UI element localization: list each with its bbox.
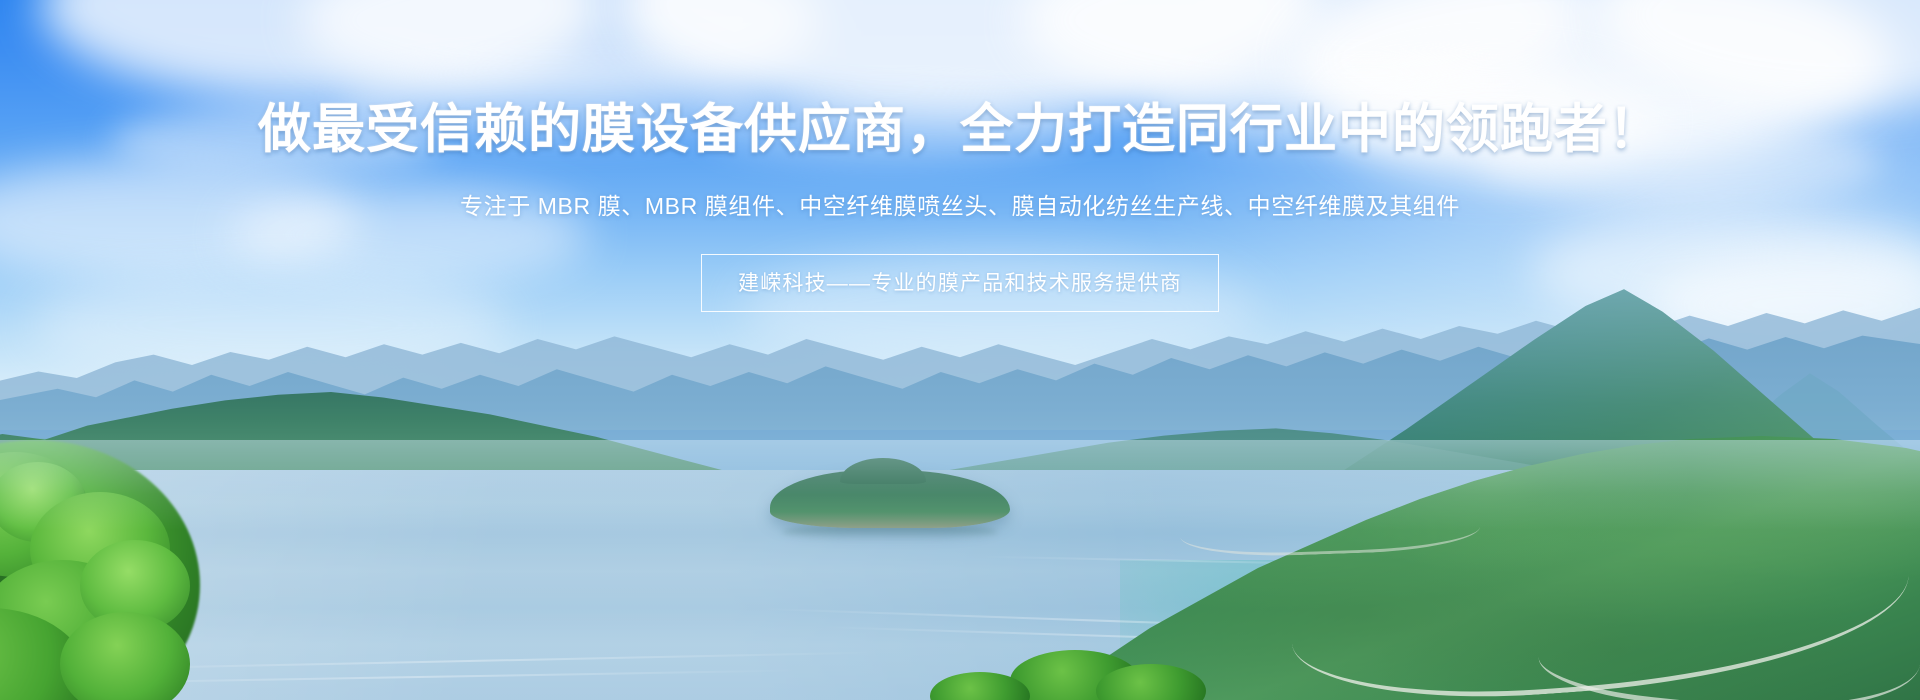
banner-subtitle: 专注于 MBR 膜、MBR 膜组件、中空纤维膜喷丝头、膜自动化纺丝生产线、中空纤…: [460, 187, 1460, 221]
banner-tagline: 建嵘科技——专业的膜产品和技术服务提供商: [738, 267, 1182, 297]
hero-banner: 做最受信赖的膜设备供应商，全力打造同行业中的领跑者！ 专注于 MBR 膜、MBR…: [0, 0, 1920, 700]
banner-headline: 做最受信赖的膜设备供应商，全力打造同行业中的领跑者！: [258, 100, 1662, 161]
tagline-box: 建嵘科技——专业的膜产品和技术服务提供商: [701, 254, 1219, 312]
